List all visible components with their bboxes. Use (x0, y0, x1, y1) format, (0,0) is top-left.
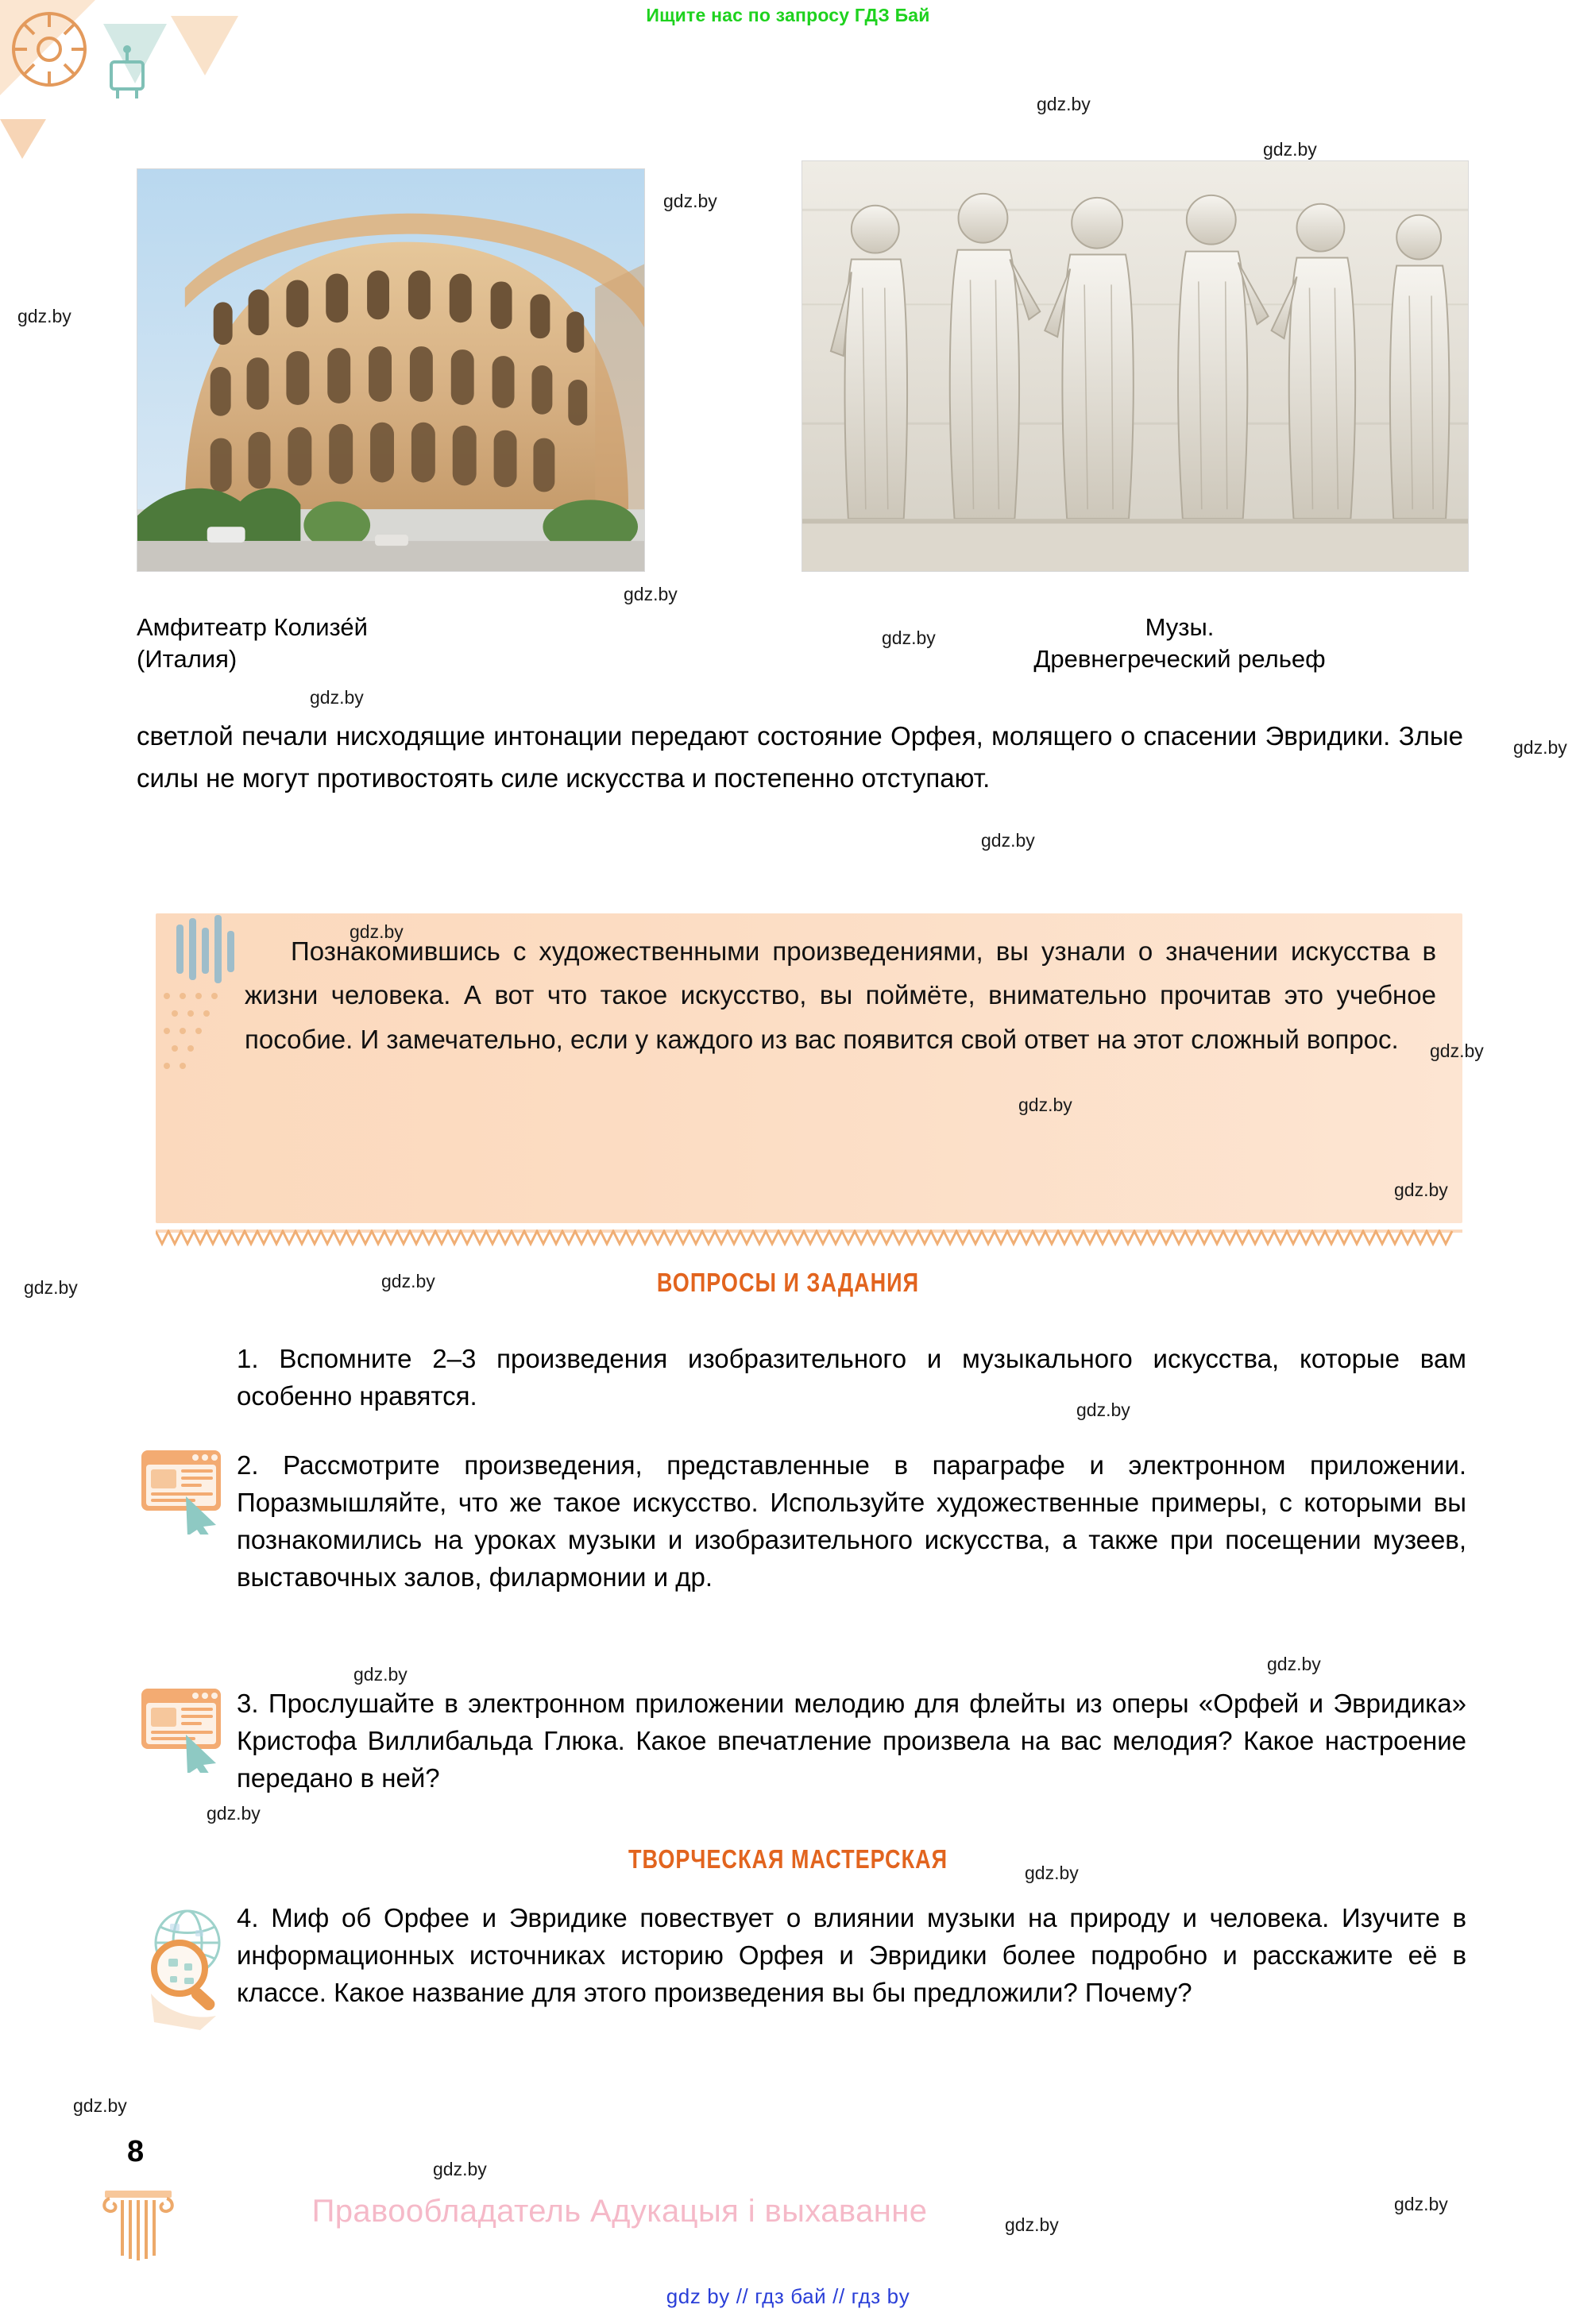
watermark: gdz.by (1513, 737, 1567, 759)
watermark: gdz.by (624, 584, 678, 605)
watermark: gdz.by (1263, 139, 1317, 160)
highlight-callout: Познакомившись с художественными произве… (156, 913, 1462, 1223)
relief-image (802, 160, 1469, 572)
watermark: gdz.by (1267, 1654, 1321, 1675)
watermark: gdz.by (433, 2159, 487, 2180)
figure-muses-relief (802, 160, 1469, 572)
watermark: gdz.by (1394, 2194, 1448, 2215)
figure-caption-relief: Музы. Древнегреческий рельеф (890, 612, 1470, 674)
site-footer-line: gdz by // гдз бай // гдз by (0, 2284, 1576, 2309)
browser-window-cursor-icon (137, 1685, 230, 1773)
watermark: gdz.by (17, 306, 71, 327)
section-heading-questions: ВОПРОСЫ И ЗАДАНИЯ (142, 1268, 1435, 1298)
figure-caption-colosseum: Амфитеатр Колизе́й (Италия) (137, 612, 368, 674)
textbook-page: Ищите нас по запросу ГДЗ Бай (0, 0, 1576, 2324)
callout-text: Познакомившись с художественными произве… (245, 929, 1436, 1061)
watermark: gdz.by (73, 2095, 127, 2117)
colosseum-image (137, 168, 645, 572)
figure-colosseum (137, 168, 645, 572)
browser-window-cursor-icon (137, 1447, 230, 1535)
callout-decoration-icon (156, 913, 259, 1112)
watermark: gdz.by (24, 1277, 78, 1299)
watermark: gdz.by (310, 687, 364, 708)
zigzag-separator (156, 1230, 1462, 1247)
question-item-2: 2. Рассмотрите произведения, представлен… (237, 1447, 1466, 1596)
question-item-3: 3. Прослушайте в электронном приложении … (237, 1685, 1466, 1797)
watermark: gdz.by (1037, 94, 1091, 115)
watermark: gdz.by (981, 830, 1035, 851)
watermark: gdz.by (663, 191, 717, 212)
question-item-4: 4. Миф об Орфее и Эвридике повествует о … (237, 1900, 1466, 2012)
section-heading-workshop: ТВОРЧЕСКАЯ МАСТЕРСКАЯ (142, 1844, 1435, 1874)
globe-magnifier-icon (133, 1906, 235, 2033)
watermark: gdz.by (207, 1803, 261, 1824)
question-item-1: 1. Вспомните 2–3 произведения изобразите… (237, 1341, 1466, 1415)
body-paragraph: светлой печали нисходящие интонации пере… (137, 715, 1463, 800)
promo-banner: Ищите нас по запросу ГДЗ Бай (0, 5, 1576, 26)
page-number: 8 (127, 2135, 144, 2169)
copyright-notice: Правообладатель Адукацыя і выхаванне (0, 2194, 1239, 2229)
watermark: gdz.by (353, 1664, 408, 1685)
